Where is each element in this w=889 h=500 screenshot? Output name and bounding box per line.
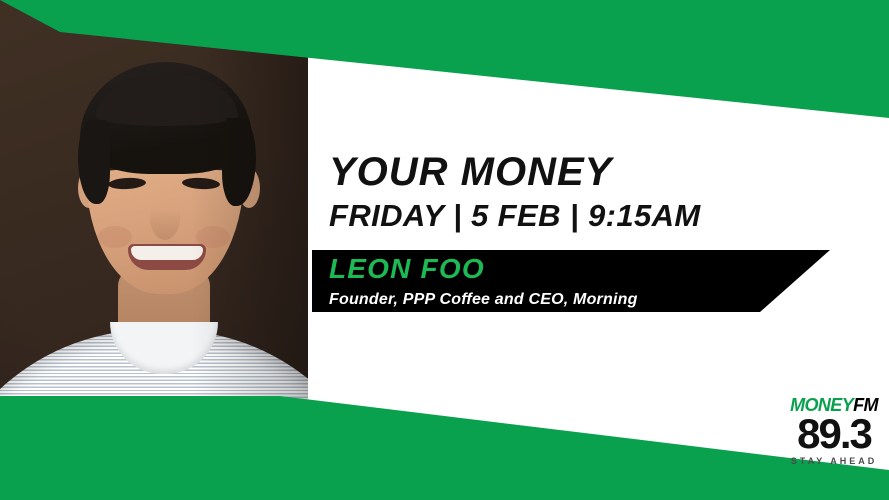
green-band-top: [0, 0, 889, 118]
headline-block: YOUR MONEY FRIDAY | 5 FEB | 9:15AM: [329, 152, 701, 231]
guest-name: LEON FOO: [329, 255, 638, 283]
promo-graphic: YOUR MONEY FRIDAY | 5 FEB | 9:15AM LEON …: [0, 0, 889, 500]
show-title: YOUR MONEY: [329, 152, 701, 192]
logo-tagline: STAY AHEAD: [784, 456, 884, 466]
guest-info-block: LEON FOO Founder, PPP Coffee and CEO, Mo…: [329, 255, 638, 308]
angled-graphic-shapes: [0, 0, 889, 500]
green-band-bottom: [0, 396, 889, 500]
logo-frequency: 89.3: [784, 415, 884, 454]
guest-role: Founder, PPP Coffee and CEO, Morning: [329, 292, 638, 308]
station-logo: MONEYFM 89.3 STAY AHEAD: [784, 396, 884, 466]
show-schedule: FRIDAY | 5 FEB | 9:15AM: [329, 200, 701, 231]
